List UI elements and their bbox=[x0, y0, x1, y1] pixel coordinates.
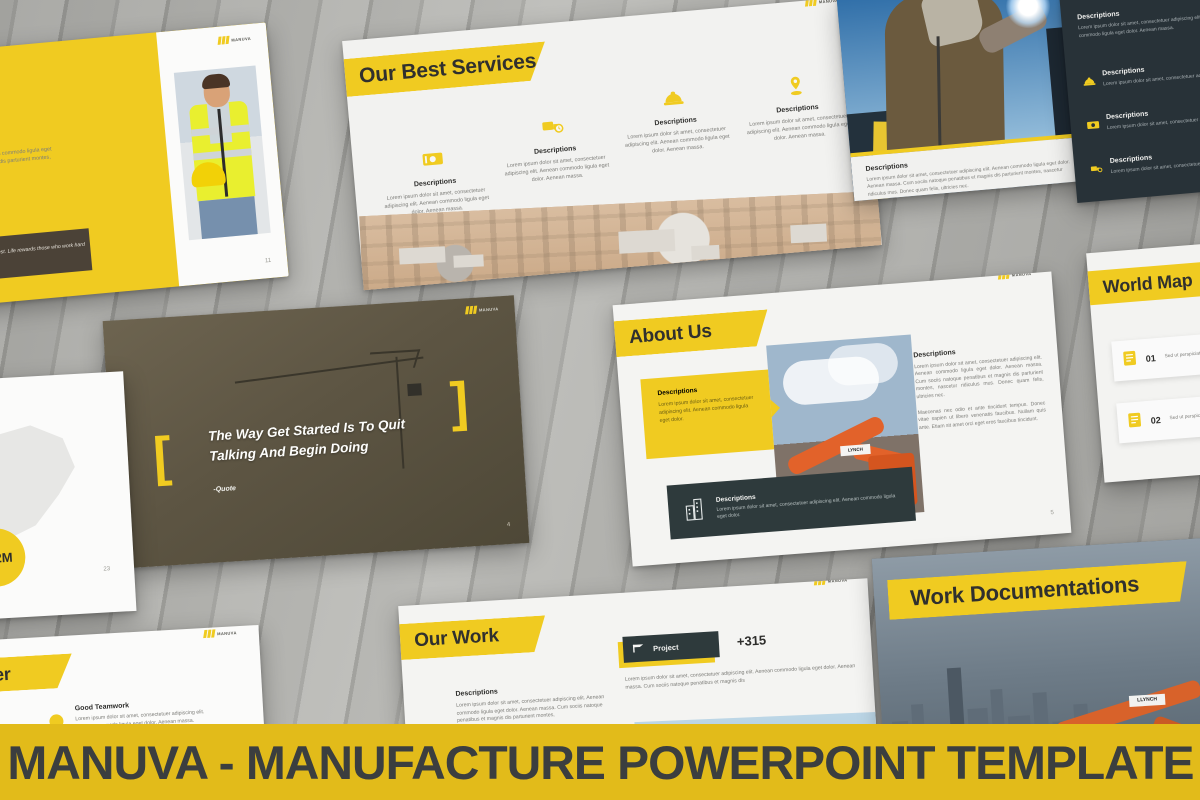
page-title: Our Work bbox=[414, 625, 500, 652]
helmet-icon bbox=[1082, 71, 1097, 92]
page-number: 11 bbox=[265, 258, 272, 265]
slide-our-best-services[interactable]: Our Best Services MANUVA Descriptions Lo… bbox=[342, 0, 882, 290]
quote-text: The Way Get Started Is To Quit Talking A… bbox=[207, 410, 477, 467]
world-list-item[interactable]: 02 Sed ut perspiciatis error sit vo bbox=[1116, 389, 1200, 443]
location-pin-icon bbox=[741, 71, 851, 102]
bottom-banner: MANUVA - MANUFACTURE POWERPOINT TEMPLATE bbox=[0, 724, 1200, 800]
page-title: Our Best Services bbox=[358, 49, 537, 88]
dark-intro: Descriptions Lorem ipsum dolor sit amet,… bbox=[1077, 2, 1200, 41]
logo-bars-icon bbox=[217, 36, 228, 45]
cash-icon bbox=[1086, 115, 1101, 136]
document-icon bbox=[1122, 349, 1138, 371]
logo-wordmark: MANUVA bbox=[231, 35, 251, 42]
work-description: Descriptions Lorem ipsum dolor sit amet,… bbox=[455, 682, 615, 726]
page-number: 4 bbox=[507, 522, 511, 528]
person-quote-bar: “Never give up. The beginning is always … bbox=[0, 228, 92, 292]
slide-world-map[interactable]: World Map 01 Sed ut perspiciatis unde na… bbox=[1086, 237, 1200, 482]
person-quote-text: “Never give up. The beginning is always … bbox=[0, 241, 91, 275]
page-title: Work Documentations bbox=[909, 571, 1139, 611]
work-subtext: Lorem ipsum dolor sit amet, consectetuer… bbox=[625, 663, 861, 692]
page-number: 23 bbox=[103, 566, 110, 572]
project-count: +315 bbox=[736, 632, 766, 649]
page-title: World Map bbox=[1102, 269, 1193, 297]
logo-wordmark: MANUVA bbox=[217, 630, 237, 636]
logo-manuva: MANUVA bbox=[805, 0, 839, 7]
service-column[interactable]: Descriptions Lorem ipsum dolor sit amet,… bbox=[619, 82, 736, 199]
value-badge: $32M bbox=[0, 527, 27, 588]
person-photo bbox=[174, 65, 271, 240]
excavator-brand-tag: LLYNCH bbox=[1129, 694, 1166, 707]
page-title: Diagram Worker bbox=[0, 663, 11, 692]
helmet-icon bbox=[619, 84, 729, 115]
quote-attribution: -Quote bbox=[213, 485, 236, 493]
service-column[interactable]: Descriptions Lorem ipsum dolor sit amet,… bbox=[741, 71, 858, 188]
truck-clock-icon bbox=[1090, 159, 1105, 180]
service-text: Lorem ipsum dolor sit amet, consectetuer… bbox=[502, 154, 612, 187]
item-text: Sed ut perspiciatis unde natus bbox=[1164, 349, 1200, 361]
title-ribbon: Our Best Services bbox=[342, 41, 548, 98]
slide-about-us[interactable]: About Us MANUVA LYNCH Descriptions Lorem… bbox=[613, 272, 1072, 567]
desc-text: Lorem ipsum dolor sit amet, consectetuer… bbox=[456, 693, 615, 725]
project-chip[interactable]: Project bbox=[622, 631, 719, 663]
logo-manuva: MANUVA bbox=[203, 628, 237, 638]
document-icon bbox=[1127, 411, 1143, 433]
item-number: 01 bbox=[1145, 353, 1156, 364]
logo-bars-icon bbox=[465, 306, 477, 315]
logo-bars-icon bbox=[805, 0, 816, 7]
screenshot-stage: MANUVA son Lorem ipsum dolor sit amet, c… bbox=[0, 0, 1200, 800]
chip-label: Project bbox=[653, 642, 679, 652]
logo-wordmark: MANUVA bbox=[819, 0, 839, 4]
title-ribbon: About Us bbox=[613, 309, 771, 358]
usa-map-shape bbox=[0, 418, 82, 550]
service-text: Lorem ipsum dolor sit amet, consectetuer… bbox=[744, 113, 854, 146]
page-number: 5 bbox=[1050, 510, 1054, 516]
slide-person[interactable]: MANUVA son Lorem ipsum dolor sit amet, c… bbox=[0, 22, 289, 312]
item-text: Sed ut perspiciatis error sit vo bbox=[1169, 411, 1200, 423]
crane-tower-brace bbox=[365, 349, 420, 371]
world-list-item[interactable]: 01 Sed ut perspiciatis unde natus bbox=[1111, 327, 1200, 381]
crane-icon bbox=[632, 642, 647, 657]
item-number: 02 bbox=[1150, 415, 1161, 426]
title-ribbon: Our Work bbox=[398, 615, 547, 660]
slide-quote[interactable]: [ ] The Way Get Started Is To Quit Talki… bbox=[103, 295, 530, 568]
service-column[interactable]: Descriptions Lorem ipsum dolor sit amet,… bbox=[496, 92, 613, 209]
right-paragraph-2: Maecenas nec odio et ante tincidunt temp… bbox=[918, 400, 1047, 432]
dark-list-item[interactable]: Descriptions Lorem ipsum dolor sit amet,… bbox=[1086, 103, 1200, 136]
title-ribbon: Diagram Worker bbox=[0, 653, 74, 700]
service-text: Lorem ipsum dolor sit amet, consectetuer… bbox=[622, 126, 732, 159]
service-column[interactable]: Descriptions Lorem ipsum dolor sit amet,… bbox=[374, 103, 491, 220]
logo-bars-icon bbox=[203, 629, 215, 638]
logo-manuva: MANUVA bbox=[465, 304, 499, 314]
dark-list-item[interactable]: Descriptions Lorem ipsum dolor sit amet,… bbox=[1090, 147, 1200, 180]
logo-wordmark: MANUVA bbox=[479, 306, 499, 312]
slide-dark-descriptions[interactable]: Descriptions Lorem ipsum dolor sit amet,… bbox=[1059, 0, 1200, 203]
page-title: About Us bbox=[628, 321, 712, 349]
cash-icon bbox=[378, 145, 488, 176]
callout-text: Lorem ipsum dolor sit amet, consectetuer… bbox=[658, 393, 760, 425]
title-ribbon: World Map bbox=[1086, 257, 1200, 307]
right-paragraph-1: Lorem ipsum dolor sit amet, consectetuer… bbox=[914, 354, 1044, 401]
about-yellow-callout: Descriptions Lorem ipsum dolor sit amet,… bbox=[640, 370, 774, 460]
dark-list-item[interactable]: Descriptions Lorem ipsum dolor sit amet,… bbox=[1082, 59, 1200, 92]
slide-map-statistics[interactable]: $32M 23 bbox=[0, 371, 137, 625]
banner-title: MANUVA - MANUFACTURE POWERPOINT TEMPLATE bbox=[7, 735, 1193, 790]
truck-clock-icon bbox=[498, 112, 608, 143]
cloud-shape bbox=[826, 342, 899, 387]
building-icon bbox=[684, 495, 708, 526]
crane-hook bbox=[407, 383, 422, 396]
slide-welder-photo[interactable]: Descriptions Lorem ipsum dolor sit amet,… bbox=[837, 0, 1094, 201]
quote-open-bracket-icon: [ bbox=[152, 435, 173, 479]
about-right-column: Descriptions Lorem ipsum dolor sit amet,… bbox=[913, 343, 1047, 442]
about-dark-bar: Descriptions Lorem ipsum dolor sit amet,… bbox=[667, 467, 916, 540]
